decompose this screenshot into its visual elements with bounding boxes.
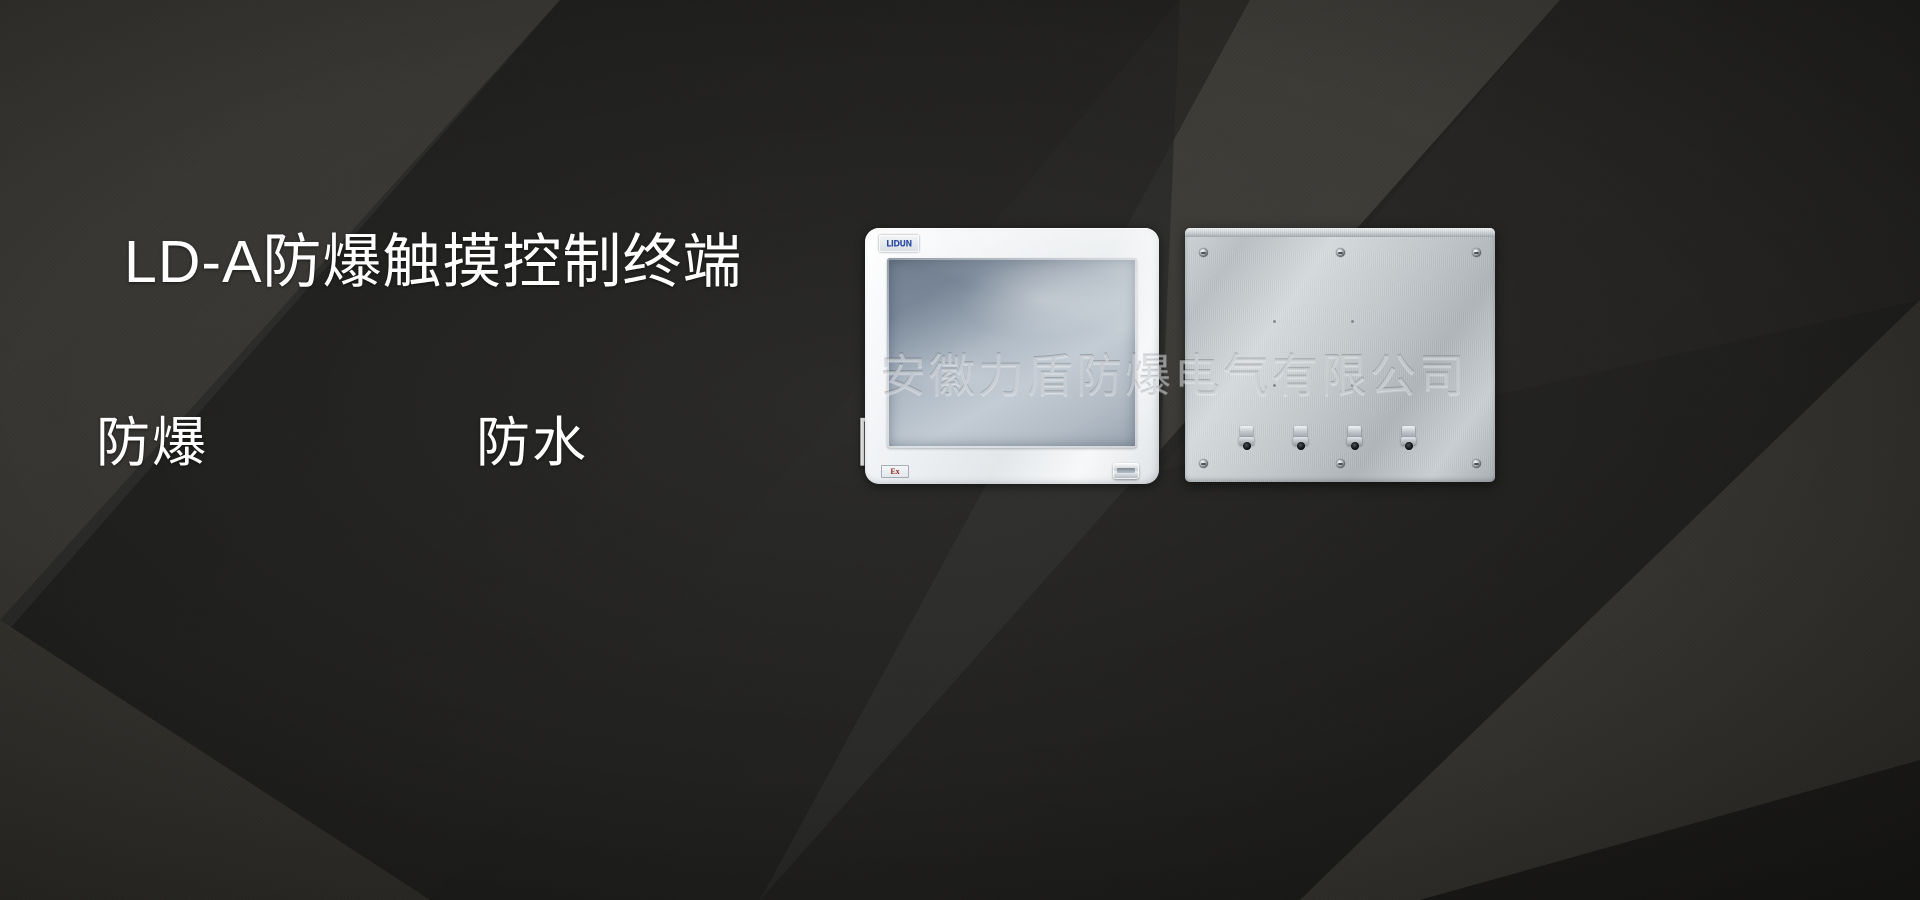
- screw-icon: [1472, 459, 1481, 468]
- cable-gland-icon: [1239, 426, 1254, 452]
- mounting-dot: [1273, 384, 1276, 387]
- mounting-dot: [1351, 320, 1354, 323]
- text-column: LD-A防爆触摸控制终端 防爆 防水 防尘: [0, 0, 840, 900]
- screw-icon: [1472, 248, 1481, 257]
- screw-icon: [1336, 248, 1345, 257]
- feature-item-explosion-proof: 防爆: [96, 398, 208, 477]
- feature-list: 防爆 防水 防尘: [96, 398, 968, 477]
- product-front-panel: LIDUN Ex: [865, 228, 1159, 484]
- mounting-dot: [1351, 384, 1354, 387]
- brushed-metal-texture: [1185, 228, 1495, 482]
- touch-screen: [887, 258, 1137, 448]
- ex-certification-badge: Ex: [881, 465, 909, 478]
- product-back-panel: [1185, 228, 1495, 482]
- cable-gland-icon: [1293, 426, 1308, 452]
- mounting-dot: [1273, 320, 1276, 323]
- brand-logo-badge: LIDUN: [879, 235, 919, 252]
- ex-badge-label: Ex: [890, 468, 899, 476]
- panel-latch: [1113, 463, 1139, 479]
- feature-item-waterproof: 防水: [476, 398, 588, 477]
- cable-gland-icon: [1401, 426, 1416, 452]
- screw-icon: [1199, 248, 1208, 257]
- screw-icon: [1199, 459, 1208, 468]
- page-title: LD-A防爆触摸控制终端: [124, 232, 742, 294]
- screen-glare: [887, 258, 1137, 448]
- screw-icon: [1336, 459, 1345, 468]
- product-banner: LD-A防爆触摸控制终端 防爆 防水 防尘 LIDUN Ex: [0, 0, 1920, 900]
- brand-logo-text: LIDUN: [886, 239, 911, 249]
- cable-gland-icon: [1347, 426, 1362, 452]
